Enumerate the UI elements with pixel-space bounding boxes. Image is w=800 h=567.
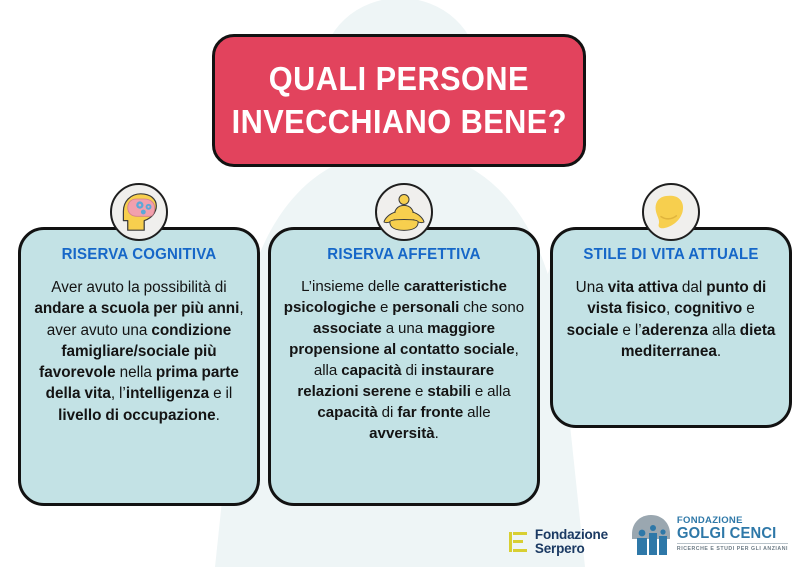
card-body: Aver avuto la possibilità di andare a sc…	[33, 277, 245, 426]
meditating-person-icon-badge	[375, 183, 433, 241]
title-banner: QUALI PERSONE INVECCHIANO BENE?	[212, 34, 586, 167]
golgi-line-2: GOLGI CENCI	[677, 526, 783, 542]
title-line-1: QUALI PERSONE	[269, 59, 529, 99]
meditating-person-icon	[379, 187, 429, 237]
logo-fondazione-golgi-cenci: FONDAZIONE GOLGI CENCI RICERCHE E STUDI …	[630, 513, 788, 557]
title-line-2: INVECCHIANO BENE?	[231, 102, 566, 142]
footer-logos: Fondazione Serpero FONDAZIONE GOLGI CENC…	[508, 513, 788, 557]
logo-fondazione-serpero: Fondazione Serpero	[508, 528, 608, 557]
card-riserva-affettiva: RISERVA AFFETTIVA L’insieme delle caratt…	[268, 227, 540, 506]
card-body: L’insieme delle caratteristiche psicolog…	[283, 277, 525, 445]
serpero-mark-icon	[508, 531, 528, 553]
card-stile-di-vita-attuale: STILE DI VITA ATTUALE Una vita attiva da…	[550, 227, 792, 428]
brain-head-icon-badge	[110, 183, 168, 241]
golgi-cenci-mark-icon	[630, 513, 672, 557]
card-body: Una vita attiva dal punto di vista fisic…	[565, 277, 777, 362]
card-heading: RISERVA COGNITIVA	[36, 246, 242, 264]
brain-head-icon	[113, 186, 165, 238]
card-heading: RISERVA AFFETTIVA	[287, 246, 522, 264]
card-heading: STILE DI VITA ATTUALE	[568, 246, 774, 264]
flexed-bicep-icon	[648, 189, 694, 235]
serpero-line-2: Serpero	[535, 542, 608, 557]
flexed-bicep-icon-badge	[642, 183, 700, 241]
serpero-line-1: Fondazione	[535, 528, 608, 543]
card-riserva-cognitiva: RISERVA COGNITIVA Aver avuto la possibil…	[18, 227, 260, 506]
golgi-tagline: RICERCHE E STUDI PER GLI ANZIANI	[677, 543, 788, 553]
